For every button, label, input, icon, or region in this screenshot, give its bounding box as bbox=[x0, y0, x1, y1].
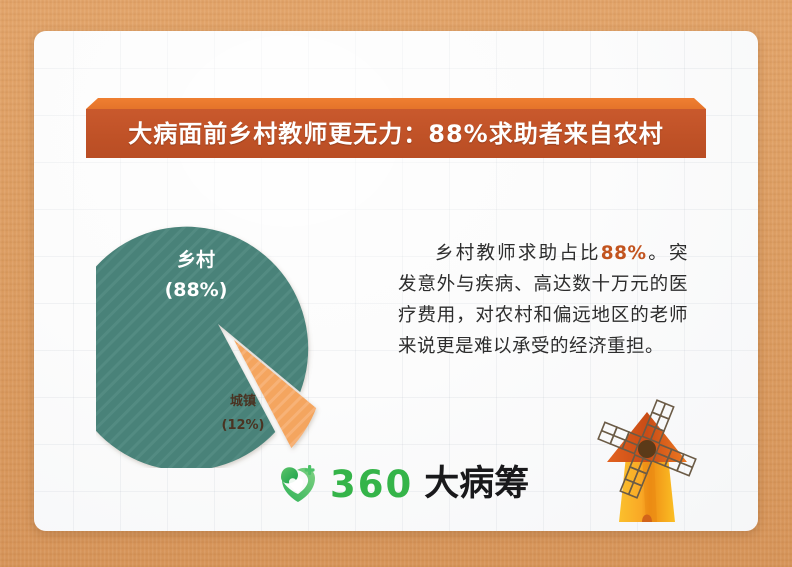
banner-top-fold bbox=[86, 98, 706, 109]
paragraph-highlight: 88% bbox=[601, 243, 647, 264]
windmill-hub bbox=[638, 440, 656, 458]
pie-label-rural-value: (88%) bbox=[165, 279, 228, 301]
windmill-illustration bbox=[562, 394, 732, 534]
infographic-canvas: 大病面前乡村教师更无力：88%求助者来自农村 bbox=[0, 0, 792, 567]
banner-body: 大病面前乡村教师更无力：88%求助者来自农村 bbox=[86, 109, 706, 158]
brand-logo: 360 大病筹 bbox=[277, 463, 529, 505]
title-banner: 大病面前乡村教师更无力：88%求助者来自农村 bbox=[86, 98, 706, 158]
pie-label-rural-name: 乡村 bbox=[177, 248, 215, 271]
green-heart-plus-icon bbox=[277, 463, 321, 505]
pie-label-urban-value: (12%) bbox=[222, 418, 265, 433]
pie-label-urban-name: 城镇 bbox=[230, 393, 256, 409]
paragraph-lead: 乡村教师求助占比 bbox=[435, 243, 601, 264]
body-paragraph: 乡村教师求助占比88%。突发意外与疾病、高达数十万元的医疗费用，对农村和偏远地区… bbox=[398, 238, 688, 362]
pie-chart: 乡村 (88%) 城镇 (12%) bbox=[96, 186, 358, 468]
pie-chart-svg: 乡村 (88%) 城镇 (12%) bbox=[96, 186, 358, 468]
logo-name: 大病筹 bbox=[424, 467, 529, 502]
page-title: 大病面前乡村教师更无力：88%求助者来自农村 bbox=[128, 122, 663, 146]
logo-number: 360 bbox=[330, 466, 413, 503]
